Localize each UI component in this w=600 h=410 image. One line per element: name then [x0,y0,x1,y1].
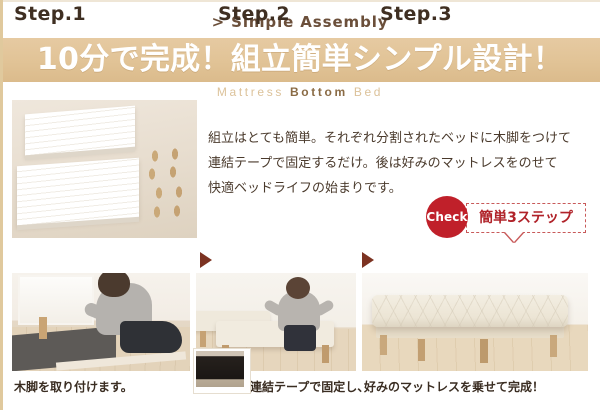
subtitle-line: Mattress Bottom Bed [0,85,600,99]
description-line-3: 快適ベッドライフの始まりです。 [208,176,593,201]
description-line-2: 連結テープで固定するだけ。後は好みのマットレスをのせて [208,151,593,176]
step-3-caption: 好みのマットレスを乗せて完成！ [364,378,544,395]
step-2-label: Step.2 [218,0,290,28]
section-eyebrow: > Simple Assembly [0,13,600,31]
three-step-callout-label: 簡単3ステップ [466,204,586,232]
subtitle-word-bed: Bed [354,85,383,99]
top-divider [0,0,600,2]
bed-panel-upper [25,106,135,157]
callout-pointer [505,232,523,242]
step-3-arrow-icon [362,252,374,268]
step-3-label: Step.3 [380,0,452,28]
step-3-photo [362,273,588,371]
page-title: 10分で完成！組立簡単シンプル設計！ [0,40,600,80]
step-1-caption: 木脚を取り付けます。 [14,378,133,395]
product-assembly-panel: > Simple Assembly 10分で完成！組立簡単シンプル設計！ Mat… [0,0,600,410]
step-1-label: Step.1 [14,0,86,28]
description-copy: 組立はとても簡単。それぞれ分割されたベッドに木脚をつけて 連結テープで固定するだ… [208,126,593,201]
subtitle-word-mattress: Mattress [217,85,284,99]
bed-panel-lower [17,158,139,227]
connector-tape-inset-photo [194,349,250,393]
description-line-1: 組立はとても簡単。それぞれ分割されたベッドに木脚をつけて [208,126,593,151]
step-1-photo [12,273,190,371]
step-2-arrow-icon [200,252,212,268]
parts-overview-photo [12,100,197,238]
step-2-caption: 連結テープで固定し、 [250,378,369,395]
subtitle-word-bottom: Bottom [290,85,348,99]
check-badge: Check [426,196,468,238]
check-badge-label: Check [426,210,467,224]
left-accent-rule [0,0,3,410]
